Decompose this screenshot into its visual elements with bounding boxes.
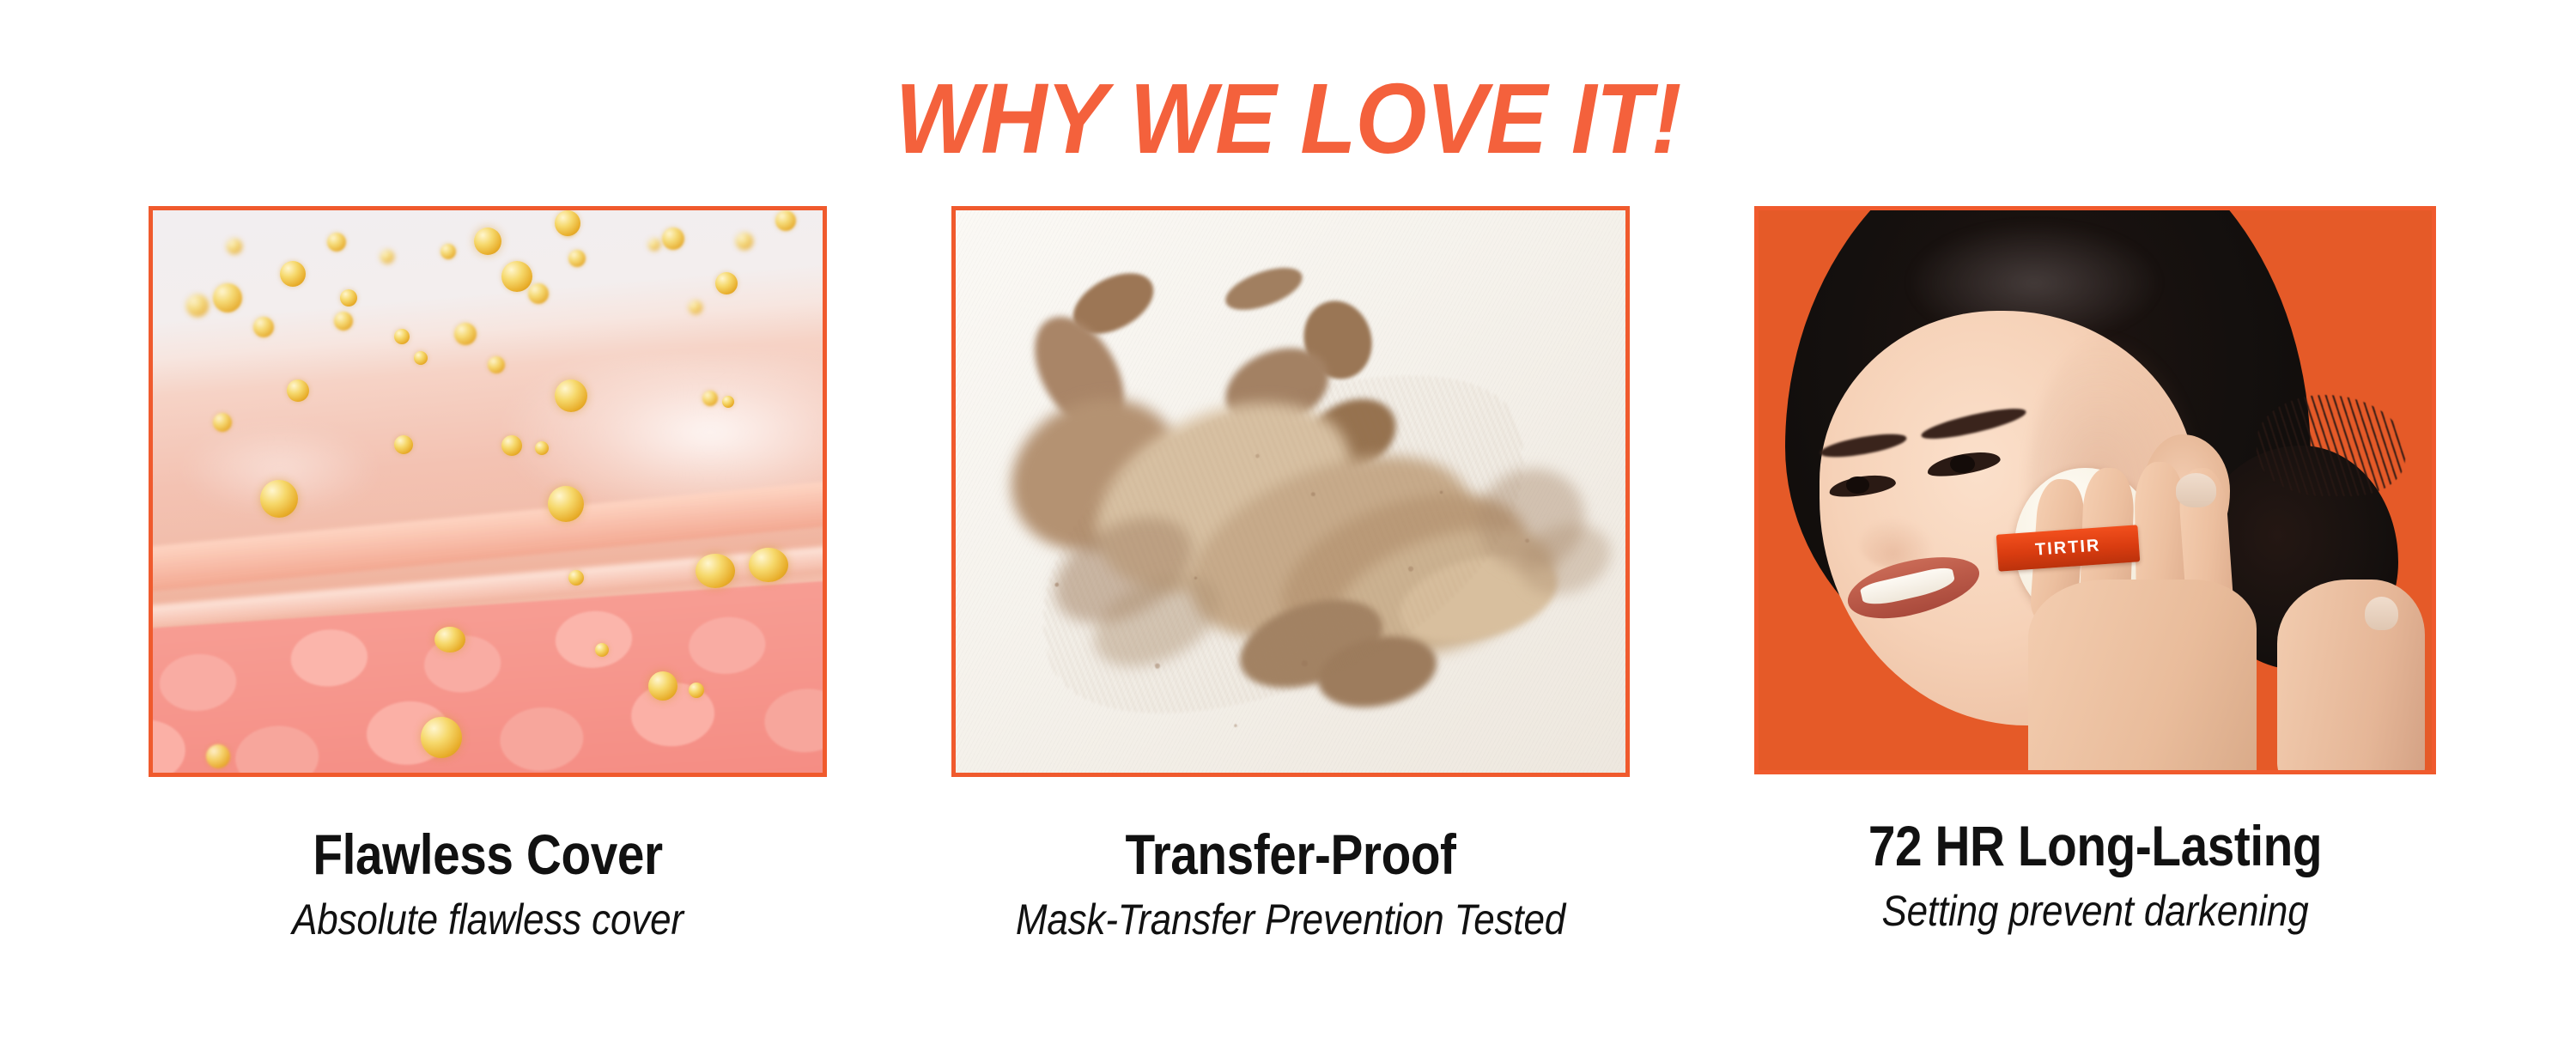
serum-droplet-icon bbox=[454, 323, 477, 345]
serum-droplet-icon bbox=[501, 435, 522, 456]
feature-columns: Flawless Cover Absolute flawless cover bbox=[0, 0, 2576, 1056]
feature-subtitle: Absolute flawless cover bbox=[189, 898, 786, 941]
serum-droplet-icon bbox=[648, 239, 660, 251]
serum-droplet-icon bbox=[528, 283, 549, 304]
model-hand bbox=[2028, 580, 2257, 770]
serum-droplet-icon bbox=[662, 228, 684, 250]
serum-droplet-icon bbox=[548, 486, 584, 522]
feature-title: Flawless Cover bbox=[196, 826, 779, 883]
serum-droplet-icon bbox=[394, 329, 410, 344]
serum-droplet-icon bbox=[568, 570, 584, 586]
pupil-left bbox=[1846, 476, 1869, 494]
feature-title: 72 HR Long-Lasting bbox=[1802, 817, 2389, 874]
serum-droplet-icon bbox=[749, 548, 788, 582]
serum-droplet-icon bbox=[702, 391, 718, 406]
serum-droplet-icon bbox=[555, 379, 587, 412]
serum-droplet-icon bbox=[287, 379, 309, 402]
feature-image-frame: TIRTIR bbox=[1754, 206, 2436, 774]
serum-droplet-icon bbox=[327, 233, 346, 252]
serum-droplet-icon bbox=[421, 717, 462, 758]
serum-droplet-icon bbox=[394, 435, 413, 454]
serum-droplet-icon bbox=[501, 261, 532, 292]
serum-droplet-icon bbox=[227, 239, 242, 254]
feature-image-frame bbox=[951, 206, 1630, 777]
serum-droplet-icon bbox=[535, 441, 549, 455]
skin-cross-section-image bbox=[153, 210, 823, 773]
serum-droplet-icon bbox=[260, 480, 298, 518]
pupil-right bbox=[1950, 455, 1974, 473]
feature-subtitle: Setting prevent darkening bbox=[1795, 889, 2396, 932]
feature-title: Transfer-Proof bbox=[999, 826, 1582, 883]
serum-droplet-icon bbox=[434, 627, 465, 652]
serum-droplet-icon bbox=[280, 261, 306, 287]
brand-name: TIRTIR bbox=[2035, 536, 2102, 560]
serum-droplet-icon bbox=[555, 210, 580, 236]
serum-droplet-icon bbox=[736, 233, 753, 250]
serum-droplet-icon bbox=[696, 554, 735, 588]
serum-droplet-icon bbox=[213, 413, 232, 432]
serum-droplet-icon bbox=[414, 351, 428, 365]
feature-image-frame bbox=[149, 206, 827, 777]
serum-droplet-icon bbox=[380, 250, 394, 264]
serum-droplet-icon bbox=[474, 228, 501, 255]
serum-droplet-icon bbox=[568, 250, 586, 267]
serum-droplet-icon bbox=[340, 289, 357, 306]
model-second-hand bbox=[2277, 580, 2425, 770]
fingernail bbox=[2176, 473, 2216, 507]
foundation-smudge-image bbox=[956, 210, 1625, 773]
serum-droplet-icon bbox=[689, 300, 702, 314]
serum-droplet-icon bbox=[334, 312, 353, 331]
model-cushion-puff-image: TIRTIR bbox=[1759, 210, 2432, 770]
feature-subtitle: Mask-Transfer Prevention Tested bbox=[992, 898, 1589, 941]
fingernail bbox=[2365, 597, 2398, 630]
